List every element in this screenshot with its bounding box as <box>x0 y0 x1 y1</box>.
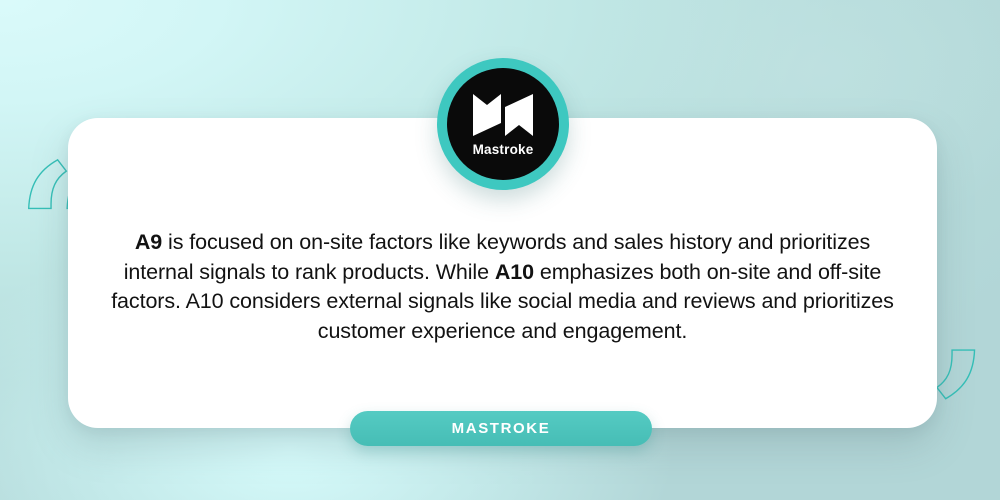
quote-emphasis-term: A10 <box>495 260 534 284</box>
quote-emphasis-term: A9 <box>135 230 162 254</box>
mastroke-logo-badge: Mastroke <box>437 58 569 190</box>
mastroke-cta-button[interactable]: MASTROKE <box>350 411 652 446</box>
mastroke-wordmark: Mastroke <box>473 142 534 157</box>
mastroke-m-mark-icon <box>471 92 535 138</box>
logo-inner-circle: Mastroke <box>447 68 559 180</box>
quote-body-text: A9 is focused on on-site factors like ke… <box>100 228 905 346</box>
